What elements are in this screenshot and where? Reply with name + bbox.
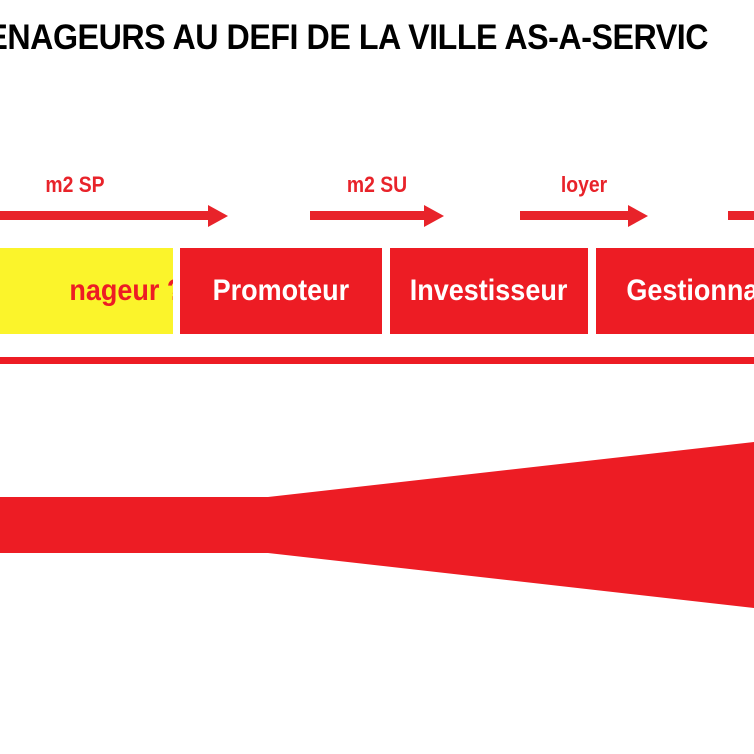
arrow-head-icon: [424, 205, 444, 227]
actor-box-investisseur[interactable]: Investisseur: [390, 248, 588, 334]
arrow-label-loyer: loyer: [527, 172, 641, 198]
arrow-m2-su: [310, 209, 444, 222]
actor-box-promoteur[interactable]: Promoteur: [180, 248, 382, 334]
actor-label: nageur ?: [69, 274, 173, 308]
divider-rule: [0, 357, 754, 364]
actor-box-amenageur[interactable]: nageur ?: [0, 248, 173, 334]
slide-canvas: MENAGEURS AU DEFI DE LA VILLE AS-A-SERVI…: [0, 0, 754, 754]
arrow-head-icon: [628, 205, 648, 227]
arrow-head-icon: [208, 205, 228, 227]
actor-label: Promoteur: [213, 274, 350, 308]
arrow-shaft: [520, 211, 628, 220]
arrow-label-m2-sp: m2 SP: [18, 172, 132, 198]
arrow-label-m2-su: m2 SU: [320, 172, 434, 198]
actor-box-gestionnaire[interactable]: Gestionna: [596, 248, 754, 334]
funnel-shape: [0, 442, 754, 608]
actor-label: Investisseur: [410, 274, 568, 308]
arrow-shaft: [310, 211, 424, 220]
arrow-m2-sp: [0, 209, 228, 222]
arrow-shaft: [728, 211, 754, 220]
arrow-partial-right: [728, 209, 754, 222]
page-title: MENAGEURS AU DEFI DE LA VILLE AS-A-SERVI…: [0, 16, 733, 60]
value-funnel: [0, 400, 754, 660]
arrow-shaft: [0, 211, 208, 220]
actor-label: Gestionna: [626, 274, 754, 308]
arrow-loyer: [520, 209, 648, 222]
